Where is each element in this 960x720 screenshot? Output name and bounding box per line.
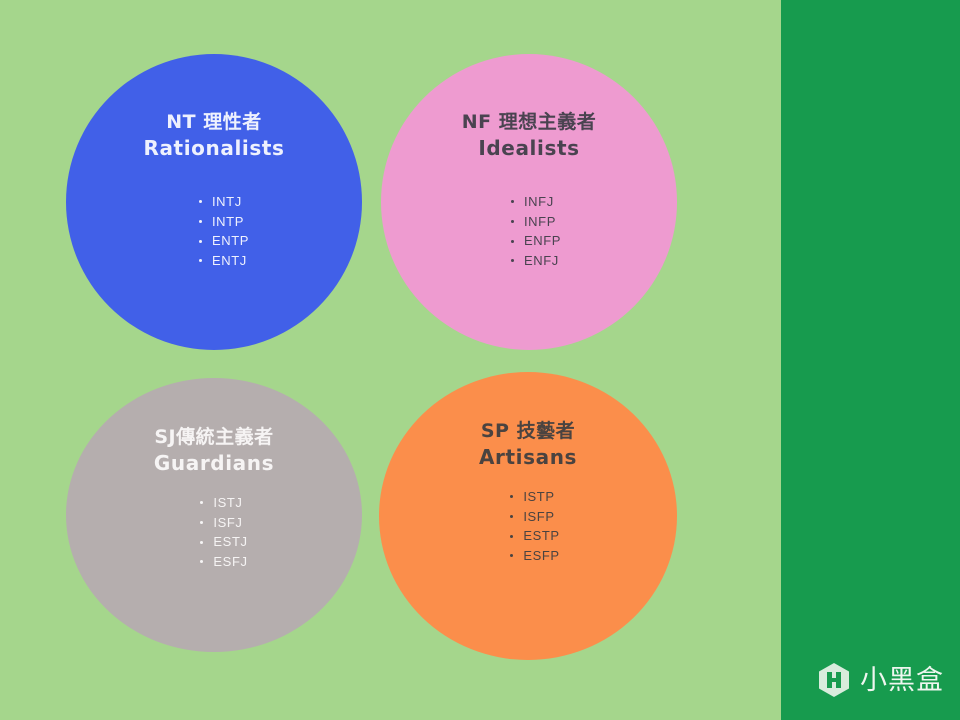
slide-canvas: NT 理性者 Rationalists INTJ INTP ENTP ENTJ … xyxy=(0,0,960,720)
type-item: ESFJ xyxy=(198,552,247,572)
type-item: ESTJ xyxy=(198,532,247,552)
type-item: ESTP xyxy=(508,526,559,546)
group-titles-sj: SJ傳統主義者 Guardians xyxy=(66,426,362,477)
type-item: ENTJ xyxy=(197,251,249,271)
group-title-cn-nt: NT 理性者 xyxy=(82,111,346,135)
group-titles-nt: NT 理性者 Rationalists xyxy=(66,111,362,162)
group-bubble-sj: SJ傳統主義者 Guardians ISTJ ISFJ ESTJ ESFJ xyxy=(66,378,362,652)
type-item: INFP xyxy=(509,212,561,232)
group-bubble-nf: NF 理想主義者 Idealists INFJ INFP ENFP ENFJ xyxy=(381,54,677,350)
group-title-en-sj: Guardians xyxy=(82,450,346,477)
type-item: ISTJ xyxy=(198,493,247,513)
group-titles-sp: SP 技藝者 Artisans xyxy=(379,420,677,471)
group-bubble-nt: NT 理性者 Rationalists INTJ INTP ENTP ENTJ xyxy=(66,54,362,350)
group-title-cn-sj: SJ傳統主義者 xyxy=(82,426,346,450)
type-item: ISFP xyxy=(508,507,559,527)
type-item: INTP xyxy=(197,212,249,232)
group-title-cn-sp: SP 技藝者 xyxy=(395,420,661,444)
group-bubble-sp: SP 技藝者 Artisans ISTP ISFP ESTP ESFP xyxy=(379,372,677,660)
group-title-en-nt: Rationalists xyxy=(82,135,346,162)
hexagon-h-logo-icon xyxy=(817,662,851,698)
group-title-en-sp: Artisans xyxy=(395,444,661,471)
brand-watermark: 小黑盒 xyxy=(817,662,944,698)
type-item: ENFP xyxy=(509,231,561,251)
type-list-sp: ISTP ISFP ESTP ESFP xyxy=(508,487,559,566)
type-item: ENFJ xyxy=(509,251,561,271)
type-item: ENTP xyxy=(197,231,249,251)
group-titles-nf: NF 理想主義者 Idealists xyxy=(381,111,677,162)
right-side-panel: 小黑盒 xyxy=(781,0,960,720)
type-list-nf: INFJ INFP ENFP ENFJ xyxy=(509,192,561,271)
type-list-sj: ISTJ ISFJ ESTJ ESFJ xyxy=(198,493,247,572)
group-title-en-nf: Idealists xyxy=(397,135,661,162)
type-item: INTJ xyxy=(197,192,249,212)
type-list-nt: INTJ INTP ENTP ENTJ xyxy=(197,192,249,271)
group-title-cn-nf: NF 理想主義者 xyxy=(397,111,661,135)
type-item: INFJ xyxy=(509,192,561,212)
type-item: ISFJ xyxy=(198,513,247,533)
type-item: ISTP xyxy=(508,487,559,507)
brand-name: 小黑盒 xyxy=(860,667,944,694)
type-item: ESFP xyxy=(508,546,559,566)
